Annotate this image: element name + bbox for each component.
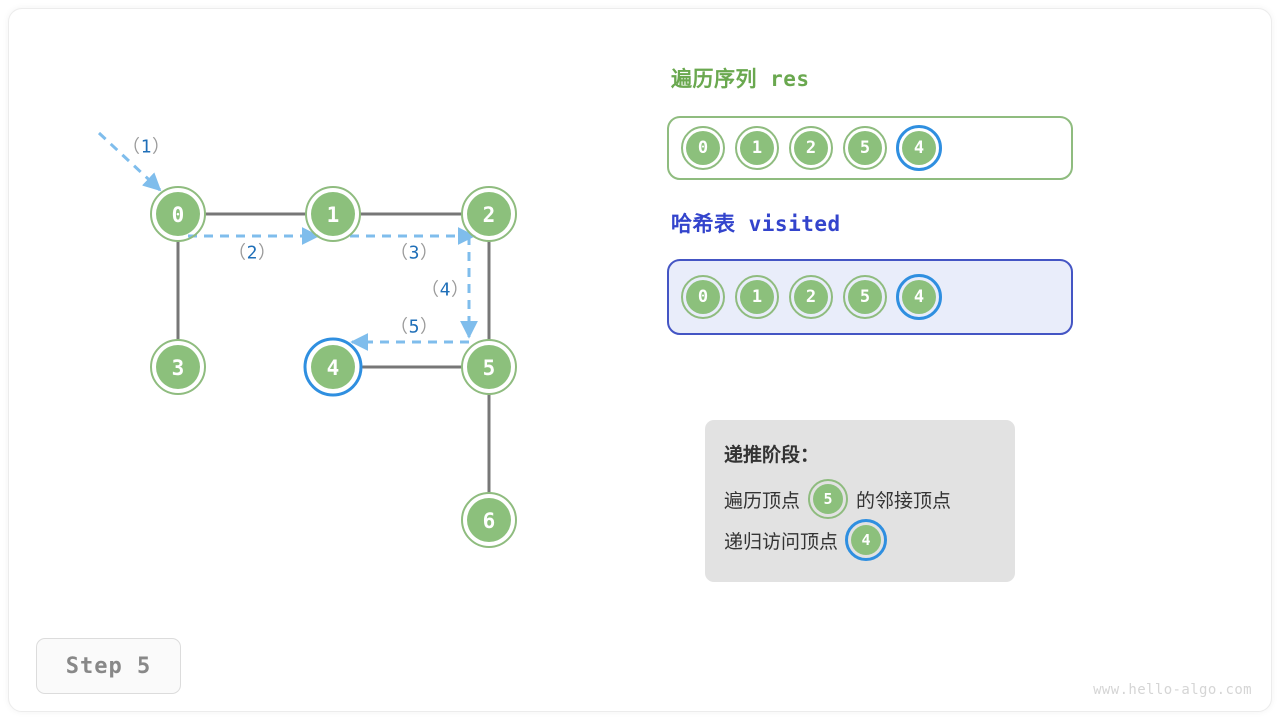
explanation-line-1: 遍历顶点 5 的邻接顶点 <box>724 484 1015 514</box>
res-item-4-label: 4 <box>914 138 924 158</box>
visited-item-2-label: 2 <box>806 287 816 307</box>
res-item-1[interactable]: 1 <box>740 131 774 165</box>
visited-item-4[interactable]: 4 <box>902 280 936 314</box>
step-badge: Step 5 <box>36 638 181 694</box>
res-item-4[interactable]: 4 <box>902 131 936 165</box>
visited-item-3[interactable]: 5 <box>848 280 882 314</box>
visited-item-2[interactable]: 2 <box>794 280 828 314</box>
res-item-0[interactable]: 0 <box>686 131 720 165</box>
illustration-canvas: （ 1 ） （ 2 ） （ 3 ） （ 4 ） （ 5 ） 0 <box>0 0 1280 720</box>
res-sequence-box: 0 1 2 5 4 <box>667 116 1073 180</box>
explanation-line-1-before: 遍历顶点 <box>724 486 800 513</box>
explanation-box: 递推阶段： 遍历顶点 5 的邻接顶点 递归访问顶点 4 <box>705 420 1015 582</box>
explanation-node-4-label: 4 <box>862 531 871 549</box>
explanation-line-2: 递归访问顶点 4 <box>724 525 1015 555</box>
res-item-3[interactable]: 5 <box>848 131 882 165</box>
res-item-2-label: 2 <box>806 138 816 158</box>
visited-item-3-label: 5 <box>860 287 870 307</box>
visited-item-0[interactable]: 0 <box>686 280 720 314</box>
canvas-frame <box>8 8 1272 712</box>
explanation-node-4: 4 <box>851 525 881 555</box>
explanation-node-5: 5 <box>813 484 843 514</box>
res-item-0-label: 0 <box>698 138 708 158</box>
visited-panel-title: 哈希表 visited <box>671 208 841 238</box>
visited-item-1-label: 1 <box>752 287 762 307</box>
res-panel-title: 遍历序列 res <box>671 63 810 93</box>
res-item-3-label: 5 <box>860 138 870 158</box>
watermark: www.hello-algo.com <box>1093 682 1252 698</box>
visited-item-4-label: 4 <box>914 287 924 307</box>
visited-item-1[interactable]: 1 <box>740 280 774 314</box>
explanation-line-1-after: 的邻接顶点 <box>856 486 951 513</box>
explanation-node-5-label: 5 <box>824 490 833 508</box>
explanation-heading: 递推阶段： <box>724 440 1015 467</box>
visited-item-0-label: 0 <box>698 287 708 307</box>
explanation-line-2-before: 递归访问顶点 <box>724 527 838 554</box>
res-item-1-label: 1 <box>752 138 762 158</box>
visited-set-box: 0 1 2 5 4 <box>667 259 1073 335</box>
res-item-2[interactable]: 2 <box>794 131 828 165</box>
